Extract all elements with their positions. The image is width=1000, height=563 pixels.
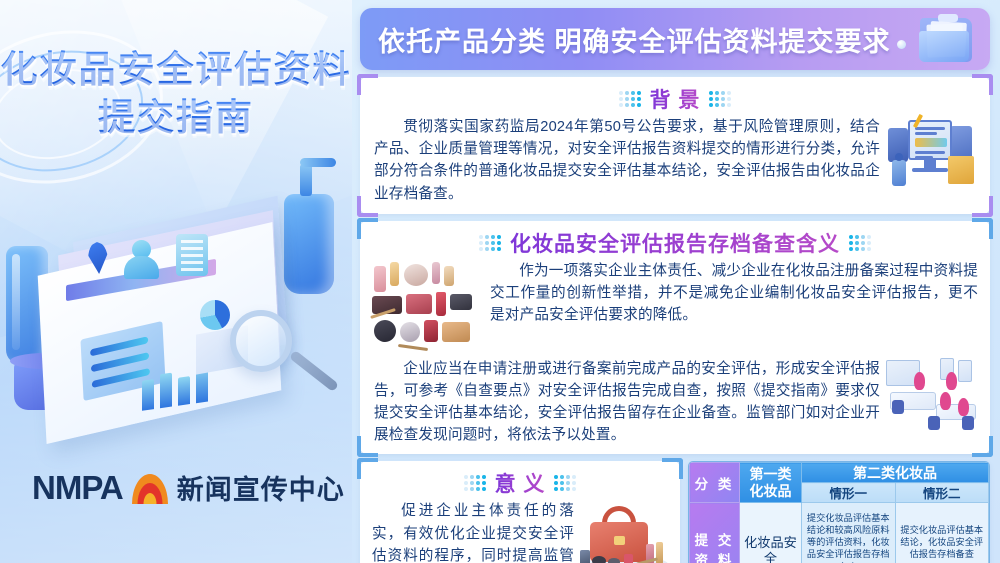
main-header-bar: 依托产品分类 明确安全评估资料提交要求 xyxy=(360,8,990,70)
section-background-title: 背 景 xyxy=(650,84,701,114)
folder-documents-icon xyxy=(914,12,976,68)
table-row-requirements: 提 交 资 料 要 求 化妆品安全 评估报告 提交化妆品评估基本结论和较高风险原… xyxy=(690,503,989,563)
table-cell-case2-value: 提交化妆品评估基本结论，化妆品安全评估报告存档备查 xyxy=(895,503,989,563)
dot-grid-right-icon xyxy=(554,475,576,491)
logo-nmpa-text: NMPA xyxy=(32,469,123,507)
cover-title-line2: 提交指南 xyxy=(0,96,352,140)
table-row-label-line1: 提 交 xyxy=(690,529,739,549)
section-significance-title: 意 义 xyxy=(495,468,546,498)
magnifier-icon xyxy=(230,310,292,372)
dot-grid-left-icon xyxy=(619,91,641,107)
table-subheader-case1: 情形一 xyxy=(802,483,896,503)
section-background-paragraph: 贯彻落实国家药监局2024年第50号公告要求，基于风险管理原则，结合产品、企业质… xyxy=(374,116,880,205)
computer-report-illustration xyxy=(886,116,978,190)
dot-grid-left-icon xyxy=(464,475,486,491)
section-archive-header: 化妆品安全评估报告存档备查含义 xyxy=(360,221,990,260)
bottom-row: 意 义 促进企业主体责任的落实，有效优化企业提交安全评估资料的程序，同时提高监管… xyxy=(360,461,990,563)
section-significance-paragraph: 促进企业主体责任的落实，有效优化企业提交安全评估资料的程序，同时提高监管效能，有… xyxy=(372,500,574,563)
cosmetic-bag-illustration xyxy=(576,500,672,563)
section-background: 背 景 贯彻落实国家药监局2024年第50号公告要求，基于风险管理原则，结合产品… xyxy=(360,77,990,214)
table-row-label-line2: 资 料 xyxy=(690,549,739,563)
table-cell-case1-value: 提交化妆品评估基本结论和较高风险原料等的评估资料，化妆品安全评估报告存档备查 xyxy=(802,503,896,563)
cover-title: 化妆品安全评估资料 提交指南 xyxy=(0,48,352,139)
infographic-root: 化妆品安全评估资料 提交指南 xyxy=(0,0,1000,563)
dot-grid-right-icon xyxy=(849,235,871,251)
person-body-icon xyxy=(124,256,159,279)
table-row-label: 提 交 资 料 要 求 xyxy=(690,503,740,563)
table-header-class2: 第二类化妆品 xyxy=(802,463,989,483)
pearl-dot-icon xyxy=(897,40,906,49)
cosmetics-products-illustration xyxy=(368,260,484,352)
office-meeting-illustration xyxy=(884,358,984,434)
dot-grid-left-icon xyxy=(479,235,501,251)
table-header-class1-line2: 化妆品 xyxy=(740,483,801,500)
right-content-panel: 依托产品分类 明确安全评估资料提交要求 背 景 xyxy=(352,0,1000,563)
cover-title-line1: 化妆品安全评估资料 xyxy=(0,48,352,92)
table-subheader-case2: 情形二 xyxy=(895,483,989,503)
table-cell-class1-line1: 化妆品安全 xyxy=(740,535,801,563)
dot-grid-right-icon xyxy=(709,91,731,107)
main-header-title: 依托产品分类 明确安全评估资料提交要求 xyxy=(378,20,891,59)
cosmetics-documents-3d-illustration xyxy=(0,170,352,460)
table-header-class1: 第一类 化妆品 xyxy=(740,463,802,503)
document-block-icon xyxy=(176,234,208,276)
logo-cn-text: 新闻宣传中心 xyxy=(177,468,345,507)
table-header-category: 分 类 xyxy=(690,463,740,503)
section-archive-paragraph-1: 作为一项落实企业主体责任、减少企业在化妆品注册备案过程中资料提交工作量的创新性举… xyxy=(490,260,978,327)
table-header-row-1: 分 类 第一类 化妆品 第二类化妆品 xyxy=(690,463,989,483)
magnifier-handle-icon xyxy=(289,350,339,392)
section-archive-paragraph-2: 企业应当在申请注册或进行备案前完成产品的安全评估，形成安全评估报告，可参考《自查… xyxy=(374,358,880,447)
pump-bottle-icon xyxy=(284,194,334,294)
submission-requirements-table: 分 类 第一类 化妆品 第二类化妆品 情形一 情形二 提 交 xyxy=(688,461,990,563)
pie-chart-icon xyxy=(200,300,230,330)
table-cell-class1-value: 化妆品安全 评估报告 xyxy=(740,503,802,563)
section-background-header: 背 景 xyxy=(360,77,990,116)
nmpa-arc-logo-icon xyxy=(132,472,168,504)
section-archive-title: 化妆品安全评估报告存档备查含义 xyxy=(510,228,840,258)
nmpa-logo: NMPA 新闻宣传中心 xyxy=(32,468,345,507)
table-header-class1-line1: 第一类 xyxy=(740,466,801,483)
section-archive-meaning: 化妆品安全评估报告存档备查含义 xyxy=(360,221,990,455)
section-significance: 意 义 促进企业主体责任的落实，有效优化企业提交安全评估资料的程序，同时提高监管… xyxy=(360,461,680,563)
section-significance-header: 意 义 xyxy=(360,461,680,500)
left-cover-panel: 化妆品安全评估资料 提交指南 xyxy=(0,0,352,563)
